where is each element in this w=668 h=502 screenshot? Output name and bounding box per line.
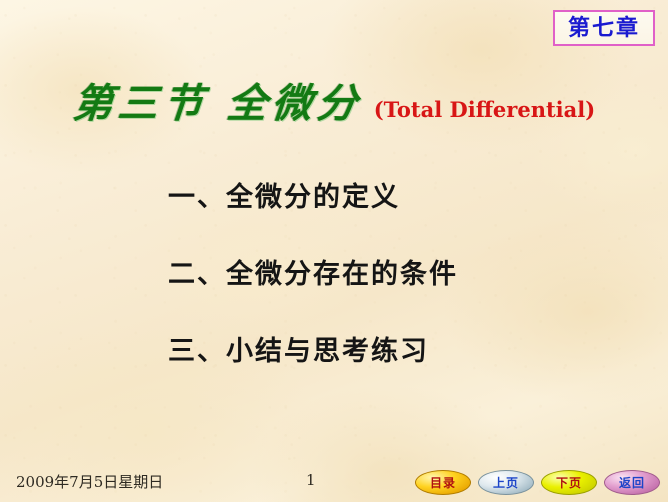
presentation-slide: 第七章 第三节 全微分 (Total Differential) 一、全微分的定… — [0, 0, 668, 502]
nav-button-previous-page-label: 上页 — [493, 477, 519, 489]
nav-button-return-label: 返回 — [619, 477, 645, 489]
slide-title-chinese: 第三节 全微分 — [71, 84, 363, 124]
nav-button-next-page[interactable]: 下页 — [541, 470, 597, 495]
slide-title-english: (Total Differential) — [374, 97, 595, 122]
nav-button-previous-page[interactable]: 上页 — [478, 470, 534, 495]
outline-item-3[interactable]: 三、小结与思考练习 — [168, 338, 588, 365]
outline-list: 一、全微分的定义 二、全微分存在的条件 三、小结与思考练习 — [168, 184, 588, 365]
nav-button-return[interactable]: 返回 — [604, 470, 660, 495]
outline-item-2[interactable]: 二、全微分存在的条件 — [168, 261, 588, 288]
nav-button-contents[interactable]: 目录 — [415, 470, 471, 495]
chapter-badge-label: 第七章 — [568, 17, 640, 39]
outline-item-1[interactable]: 一、全微分的定义 — [168, 184, 588, 211]
slide-title: 第三节 全微分 (Total Differential) — [0, 84, 668, 124]
nav-button-contents-label: 目录 — [430, 477, 456, 489]
navigation-button-group: 目录 上页 下页 返回 — [415, 470, 660, 495]
footer-date: 2009年7月5日星期日 — [16, 471, 163, 492]
chapter-badge: 第七章 — [553, 10, 655, 46]
nav-button-next-page-label: 下页 — [556, 477, 582, 489]
footer-page-number: 1 — [306, 471, 316, 489]
